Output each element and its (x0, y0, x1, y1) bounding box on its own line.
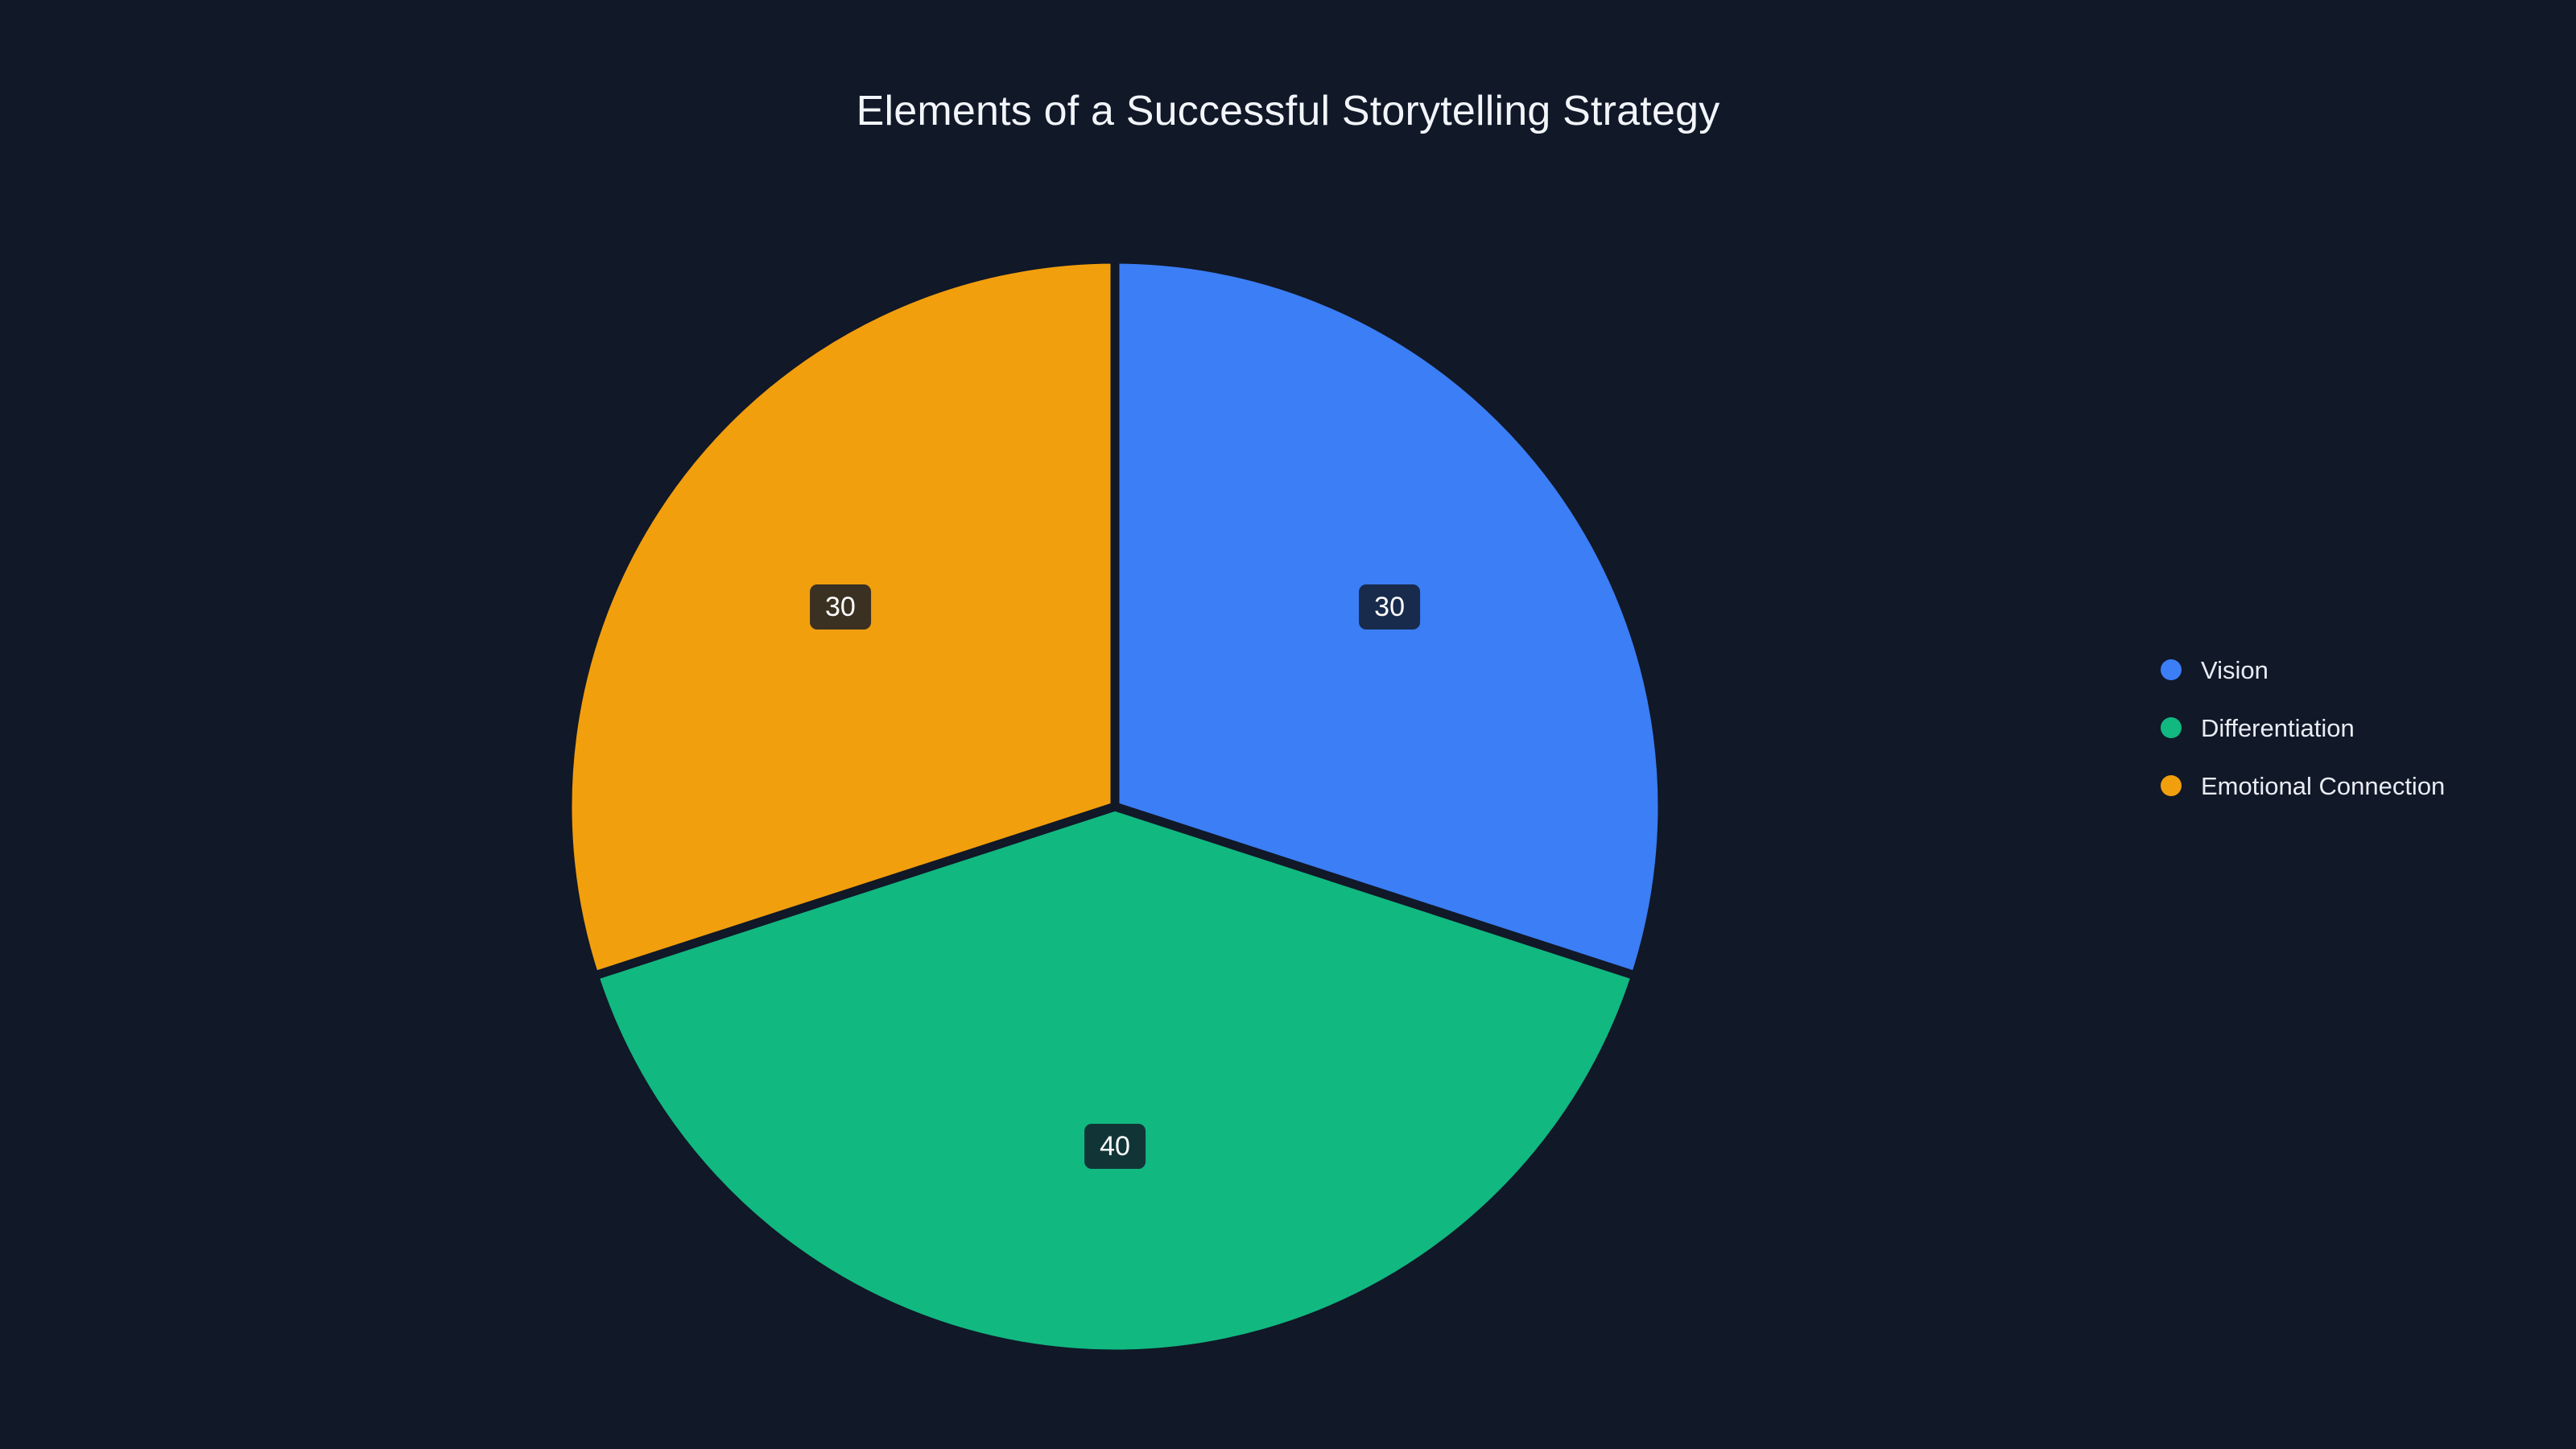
slice-value-label: 30 (1359, 584, 1420, 630)
legend-item-label: Emotional Connection (2201, 774, 2445, 799)
legend-item[interactable]: Differentiation (2161, 699, 2531, 757)
legend-item[interactable]: Vision (2161, 641, 2531, 699)
legend-item-label: Differentiation (2201, 716, 2355, 741)
legend-swatch-circle-icon (2161, 775, 2182, 796)
chart-legend: VisionDifferentiationEmotional Connectio… (2161, 641, 2531, 815)
pie-svg (563, 254, 1667, 1359)
page-title: Elements of a Successful Storytelling St… (0, 89, 2576, 134)
slice-value-label: 30 (810, 584, 871, 630)
legend-item-label: Vision (2201, 658, 2268, 683)
slice-value-label: 40 (1084, 1124, 1146, 1169)
legend-item[interactable]: Emotional Connection (2161, 757, 2531, 815)
legend-swatch-circle-icon (2161, 717, 2182, 738)
pie-plot-area: 304030 (563, 254, 1667, 1359)
legend-swatch-circle-icon (2161, 659, 2182, 680)
pie-chart-figure: Elements of a Successful Storytelling St… (0, 0, 2576, 1449)
